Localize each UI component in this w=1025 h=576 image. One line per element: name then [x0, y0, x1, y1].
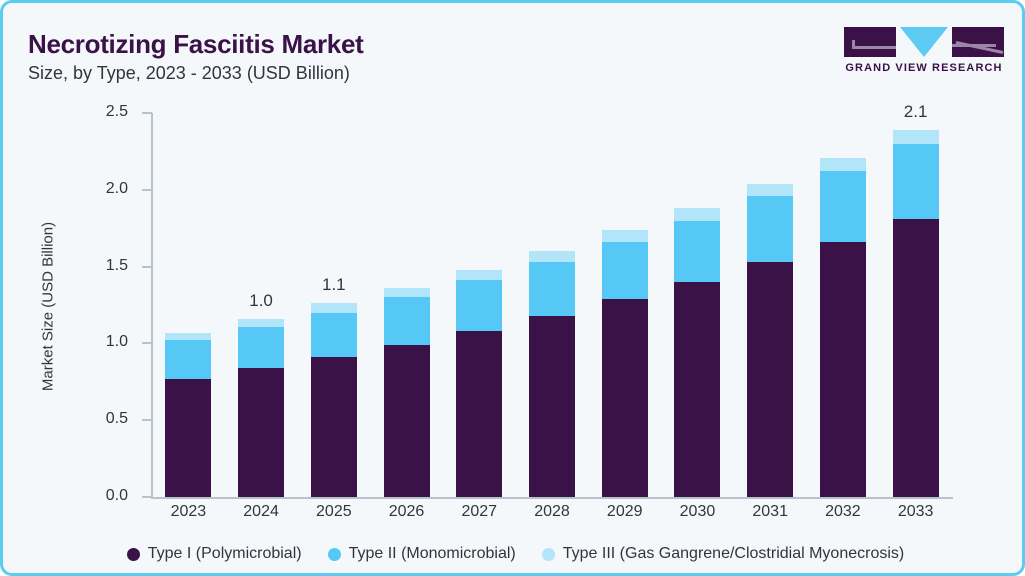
bar-group[interactable]: [820, 113, 866, 497]
bar-segment-type3[interactable]: [893, 130, 939, 144]
y-axis-tick-label: 0.5: [68, 410, 128, 428]
y-axis-tick: [142, 112, 152, 114]
bar-segment-type1[interactable]: [165, 379, 211, 497]
bar-segment-type1[interactable]: [529, 316, 575, 497]
bar-group[interactable]: [674, 113, 720, 497]
y-axis-tick-label: 1.0: [68, 333, 128, 351]
bar-segment-type3[interactable]: [602, 230, 648, 242]
bar-value-label: 2.1: [876, 102, 956, 122]
bar-segment-type2[interactable]: [165, 340, 211, 378]
bar-segment-type2[interactable]: [384, 297, 430, 345]
x-axis-tick-label: 2023: [148, 503, 228, 521]
bar-segment-type3[interactable]: [674, 208, 720, 220]
bar-segment-type3[interactable]: [820, 158, 866, 172]
x-axis-tick-label: 2033: [876, 503, 956, 521]
bar-segment-type1[interactable]: [311, 357, 357, 497]
bar-segment-type1[interactable]: [893, 219, 939, 497]
bar-segment-type2[interactable]: [893, 144, 939, 219]
bar-segment-type3[interactable]: [238, 319, 284, 327]
legend-label: Type II (Monomicrobial): [349, 545, 516, 563]
bar-segment-type1[interactable]: [384, 345, 430, 497]
chart-plot: Market Size (USD Billion) 0.00.51.01.52.…: [3, 3, 1025, 576]
chart-card: Necrotizing Fasciitis Market Size, by Ty…: [0, 0, 1025, 576]
legend-label: Type III (Gas Gangrene/Clostridial Myone…: [563, 545, 904, 563]
chart-legend: Type I (Polymicrobial)Type II (Monomicro…: [3, 537, 1025, 571]
bar-segment-type3[interactable]: [456, 270, 502, 281]
legend-item[interactable]: Type I (Polymicrobial): [127, 545, 302, 563]
x-axis-tick-label: 2030: [657, 503, 737, 521]
x-axis-tick-label: 2031: [730, 503, 810, 521]
bar-group[interactable]: [893, 113, 939, 497]
bar-segment-type1[interactable]: [456, 331, 502, 497]
y-axis-tick: [142, 419, 152, 421]
bar-segment-type2[interactable]: [747, 196, 793, 262]
bar-segment-type1[interactable]: [747, 262, 793, 497]
bar-segment-type3[interactable]: [311, 303, 357, 312]
bar-segment-type3[interactable]: [747, 184, 793, 196]
bar-group[interactable]: [311, 113, 357, 497]
y-axis-title: Market Size (USD Billion): [40, 142, 57, 472]
legend-swatch-icon: [127, 548, 140, 561]
bar-group[interactable]: [602, 113, 648, 497]
bar-segment-type2[interactable]: [602, 242, 648, 299]
legend-item[interactable]: Type III (Gas Gangrene/Clostridial Myone…: [542, 545, 904, 563]
bar-segment-type2[interactable]: [820, 171, 866, 242]
x-axis-tick-label: 2032: [803, 503, 883, 521]
y-axis-tick-label: 2.0: [68, 180, 128, 198]
bar-group[interactable]: [456, 113, 502, 497]
x-axis-tick-label: 2026: [367, 503, 447, 521]
bar-segment-type3[interactable]: [165, 333, 211, 341]
y-axis-tick-label: 2.5: [68, 103, 128, 121]
legend-swatch-icon: [328, 548, 341, 561]
bar-segment-type2[interactable]: [238, 327, 284, 368]
x-axis-tick-label: 2029: [585, 503, 665, 521]
bar-segment-type1[interactable]: [820, 242, 866, 497]
y-axis-tick: [142, 266, 152, 268]
x-axis-tick-label: 2027: [439, 503, 519, 521]
bar-segment-type2[interactable]: [674, 221, 720, 282]
bar-segment-type1[interactable]: [602, 299, 648, 497]
bar-segment-type2[interactable]: [529, 262, 575, 316]
y-axis-tick: [142, 189, 152, 191]
legend-label: Type I (Polymicrobial): [148, 545, 302, 563]
legend-item[interactable]: Type II (Monomicrobial): [328, 545, 516, 563]
x-axis-tick-label: 2024: [221, 503, 301, 521]
bar-segment-type3[interactable]: [384, 288, 430, 297]
x-axis-tick-label: 2028: [512, 503, 592, 521]
bar-segment-type1[interactable]: [238, 368, 284, 497]
bar-segment-type3[interactable]: [529, 251, 575, 262]
bar-segment-type2[interactable]: [311, 313, 357, 358]
bar-group[interactable]: [165, 113, 211, 497]
bar-value-label: 1.1: [294, 275, 374, 295]
x-axis-line: [151, 497, 953, 499]
y-axis-tick-label: 1.5: [68, 257, 128, 275]
bar-group[interactable]: [384, 113, 430, 497]
x-axis-tick-label: 2025: [294, 503, 374, 521]
bar-group[interactable]: [529, 113, 575, 497]
bar-group[interactable]: [747, 113, 793, 497]
y-axis-tick: [142, 342, 152, 344]
legend-swatch-icon: [542, 548, 555, 561]
bar-segment-type2[interactable]: [456, 280, 502, 331]
y-axis-tick: [142, 496, 152, 498]
bar-value-label: 1.0: [221, 291, 301, 311]
bar-segment-type1[interactable]: [674, 282, 720, 497]
y-axis-tick-label: 0.0: [68, 487, 128, 505]
